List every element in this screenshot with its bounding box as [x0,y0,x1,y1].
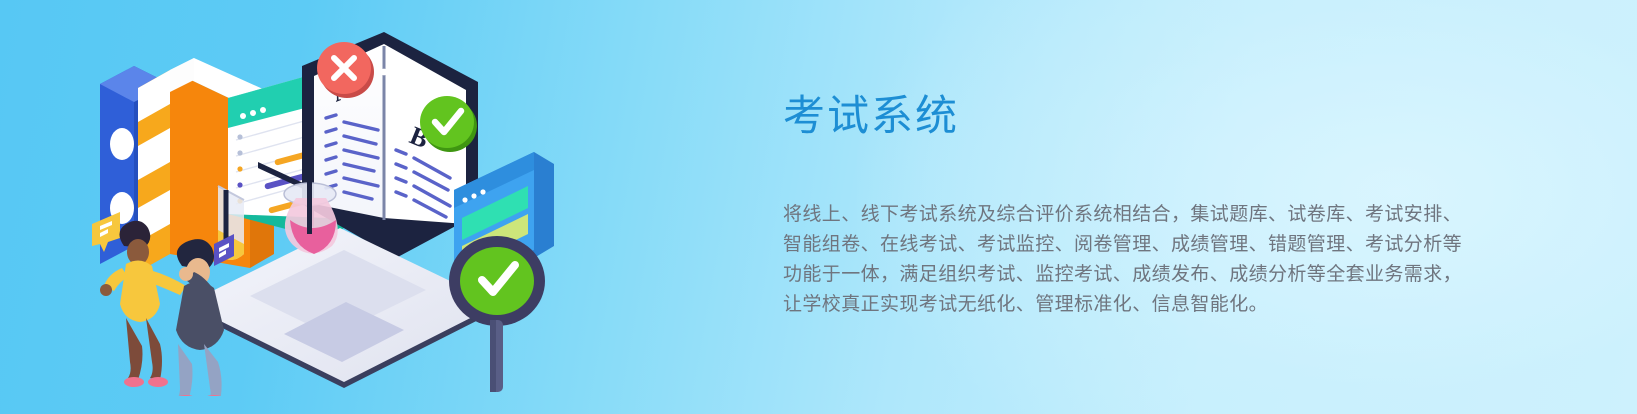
banner-text-block: 考试系统 将线上、线下考试系统及综合评价系统相结合，集试题库、试卷库、考试安排、… [783,88,1503,320]
page-description: 将线上、线下考试系统及综合评价系统相结合，集试题库、试卷库、考试安排、 智能组卷… [783,144,1503,320]
exam-system-illustration: A B [78,18,598,396]
exam-system-banner: A B [0,0,1637,414]
page-title: 考试系统 [783,88,1503,144]
